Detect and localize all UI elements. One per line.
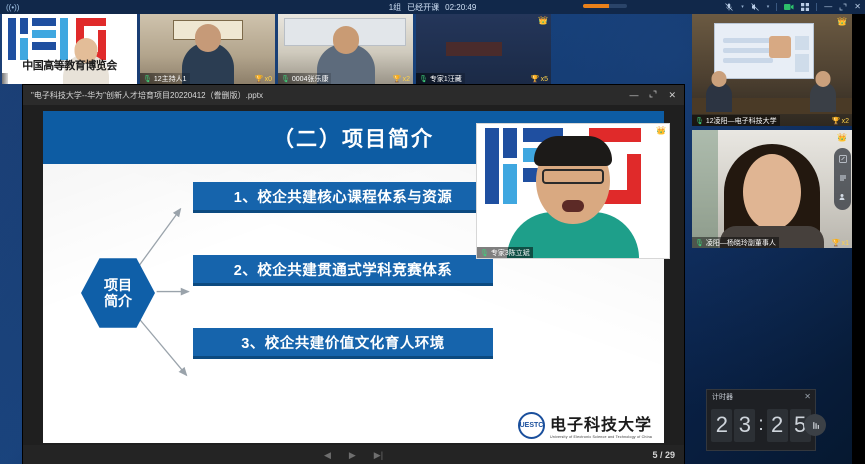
crown-icon: 👑	[837, 17, 847, 26]
participant-silhouette-left	[706, 82, 732, 112]
next-slide-button[interactable]: ▶|	[374, 451, 383, 460]
uestc-logo: UESTC 电子科技大学 University of Electronic Sc…	[518, 411, 652, 439]
mic-on-icon: 🎙	[419, 75, 428, 83]
sidebar-video-tile-0[interactable]: 👑 🎙 12凌阳—电子科技大学 🏆 x2	[692, 14, 852, 126]
sidebar-tile-0-label: 12凌阳—电子科技大学	[706, 116, 777, 126]
mic-on-icon: 🎙	[143, 75, 152, 83]
mic-on-icon: 🎙	[480, 249, 489, 257]
floating-video-nametag: 🎙 专家3陈立斌	[477, 247, 533, 258]
sidebar-tile-1-nametag: 🎙 凌阳—杨晓玲副董事人	[692, 237, 779, 248]
trophy-icon: 🏆	[531, 75, 540, 83]
mic-on-icon: 🎙	[281, 75, 290, 83]
meeting-app-window: ((•)) 1组 已经开课 02:20:49 ▾ ▾	[0, 0, 865, 464]
hexagon-node: 项目 简介	[81, 256, 155, 330]
video-tile-2-score: 🏆 x2	[393, 75, 410, 83]
timer-close-icon[interactable]: ✕	[804, 393, 811, 401]
ppt-window-controls: — ✕	[629, 90, 680, 100]
speaker-chevron-down-icon[interactable]: ▾	[767, 4, 770, 10]
sidebar-video-tile-1[interactable]: 👑 🎙 凌阳—杨晓玲副董事人 🏆 x1	[692, 130, 852, 248]
previous-slide-button[interactable]: ◀	[324, 451, 331, 460]
video-tile-1-score: 🏆 x0	[255, 75, 272, 83]
speaker-portrait	[513, 138, 633, 258]
slide-nav-controls: ◀ ▶ ▶|	[324, 451, 383, 460]
note-icon[interactable]	[839, 174, 847, 184]
toolbar-divider	[776, 3, 777, 11]
participants-icon[interactable]	[839, 193, 847, 203]
speaker-icon[interactable]	[751, 3, 759, 11]
video-tile-2-label: 0004张乐康	[292, 74, 329, 84]
camera-icon[interactable]	[784, 3, 794, 11]
video-tile-2-nametag: 🎙 0004张乐康	[278, 73, 331, 84]
timer-digit-2: 2	[767, 409, 788, 442]
slide-box-3: 3、校企共建价值文化育人环境	[193, 328, 493, 359]
mic-on-icon: 🎙	[695, 117, 704, 125]
sidebar-tile-0-score-value: x2	[842, 118, 849, 125]
mic-icon[interactable]	[725, 3, 733, 11]
sidebar-tile-1-score: 🏆 x1	[832, 239, 849, 247]
video-tile-3-nametag: 🎙 专家1汪藏	[416, 73, 465, 84]
close-button[interactable]: ✕	[854, 3, 861, 11]
timer-drag-handle-icon[interactable]	[804, 414, 826, 436]
mic-chevron-down-icon[interactable]: ▾	[741, 4, 744, 10]
video-tile-0-overlay-text: 中国高等教育博览会	[4, 57, 135, 73]
sidebar-tool-rail	[834, 148, 851, 210]
ppt-restore-button[interactable]	[649, 90, 657, 100]
banner-decor	[446, 42, 502, 56]
participant-silhouette-right	[810, 82, 836, 112]
top-toolbar: ((•)) 1组 已经开课 02:20:49 ▾ ▾	[0, 0, 865, 14]
upload-progress-bar	[583, 4, 627, 8]
uestc-name-en: University of Electronic Science and Tec…	[550, 435, 652, 439]
timer-separator: :	[757, 414, 764, 436]
video-tile-2[interactable]: 🎙 0004张乐康 🏆 x2	[278, 14, 413, 84]
uestc-name-cn: 电子科技大学	[550, 411, 652, 435]
video-tile-1[interactable]: 🎙 12主持人1 🏆 x0	[140, 14, 275, 84]
slide-box-1: 1、校企共建核心课程体系与资源	[193, 182, 493, 213]
timer-label: 计时器	[712, 392, 733, 402]
play-slideshow-button[interactable]: ▶	[349, 451, 356, 460]
trophy-icon: 🏆	[832, 239, 841, 247]
toolbar-divider-2	[816, 3, 817, 11]
slide-title: （二）项目简介	[273, 123, 434, 153]
trophy-icon: 🏆	[393, 75, 402, 83]
slide-page-indicator: 5 / 29	[652, 450, 675, 460]
group-label: 1组	[389, 2, 401, 13]
uestc-emblem-icon: UESTC	[518, 412, 545, 439]
crown-icon: 👑	[538, 16, 548, 25]
timer-widget[interactable]: 计时器 ✕ 2 3 : 2 5	[706, 389, 816, 451]
sidebar-tile-1-label: 凌阳—杨晓玲副董事人	[706, 238, 776, 248]
class-status-label: 已经开课	[407, 2, 439, 13]
video-tile-3-label: 专家1汪藏	[430, 74, 462, 84]
trophy-icon: 🏆	[832, 117, 841, 125]
crown-icon: 👑	[656, 126, 666, 135]
mic-on-icon: 🎙	[695, 239, 704, 247]
crown-icon: 👑	[837, 133, 847, 142]
ppt-title-bar[interactable]: "电子科技大学--华为"创新人才培育项目20220412（誊删版）.pptx —…	[23, 85, 684, 105]
video-tile-0-nametag	[2, 73, 8, 84]
projection-screen-decor	[714, 23, 814, 79]
ppt-close-button[interactable]: ✕	[668, 91, 676, 100]
video-tile-3-score-value: x5	[541, 76, 548, 83]
timer-digit-0: 2	[711, 409, 732, 442]
ppt-file-title: "电子科技大学--华为"创新人才培育项目20220412（誊删版）.pptx	[31, 90, 263, 101]
video-tile-1-score-value: x0	[265, 76, 272, 83]
right-edge-bar	[852, 14, 865, 464]
ppt-minimize-button[interactable]: —	[629, 91, 638, 100]
floating-video-label: 专家3陈立斌	[491, 248, 530, 258]
sidebar-tile-1-score-value: x1	[842, 240, 849, 247]
minimize-button[interactable]: —	[824, 3, 832, 11]
video-tile-1-nametag: 🎙 12主持人1	[140, 73, 190, 84]
video-tile-2-score-value: x2	[403, 76, 410, 83]
video-tile-3[interactable]: 👑 🎙 专家1汪藏 🏆 x5	[416, 14, 551, 84]
timer-digits: 2 3 : 2 5	[707, 404, 815, 446]
top-toolbar-right: ▾ ▾ — ✕	[725, 0, 861, 14]
participant-video-strip: 中国高等教育博览会 🎙 12主持人1 🏆 x0 🎙 0	[0, 14, 686, 84]
sidebar-tile-0-nametag: 🎙 12凌阳—电子科技大学	[692, 115, 780, 126]
hexagon-line-2: 简介	[104, 293, 132, 309]
participant-portrait	[724, 144, 820, 248]
floating-speaker-video[interactable]: HINA 👑 🎙 专家3陈立斌	[476, 123, 670, 259]
video-tile-1-label: 12主持人1	[154, 74, 187, 84]
grid-view-icon[interactable]	[801, 3, 809, 11]
hexagon-line-1: 项目	[104, 277, 132, 293]
edit-icon[interactable]	[839, 155, 847, 165]
timer-digit-1: 3	[734, 409, 755, 442]
ppt-navigation-bar: ◀ ▶ ▶| 5 / 29	[23, 445, 684, 464]
timer-header: 计时器 ✕	[707, 390, 815, 404]
slide-box-2: 2、校企共建贯通式学科竞赛体系	[193, 255, 493, 286]
trophy-icon: 🏆	[255, 75, 264, 83]
video-tile-0[interactable]: 中国高等教育博览会	[2, 14, 137, 84]
sidebar-tile-0-score: 🏆 x2	[832, 117, 849, 125]
restore-button[interactable]	[839, 3, 847, 11]
video-tile-3-score: 🏆 x5	[531, 75, 548, 83]
elapsed-time: 02:20:49	[445, 3, 476, 12]
